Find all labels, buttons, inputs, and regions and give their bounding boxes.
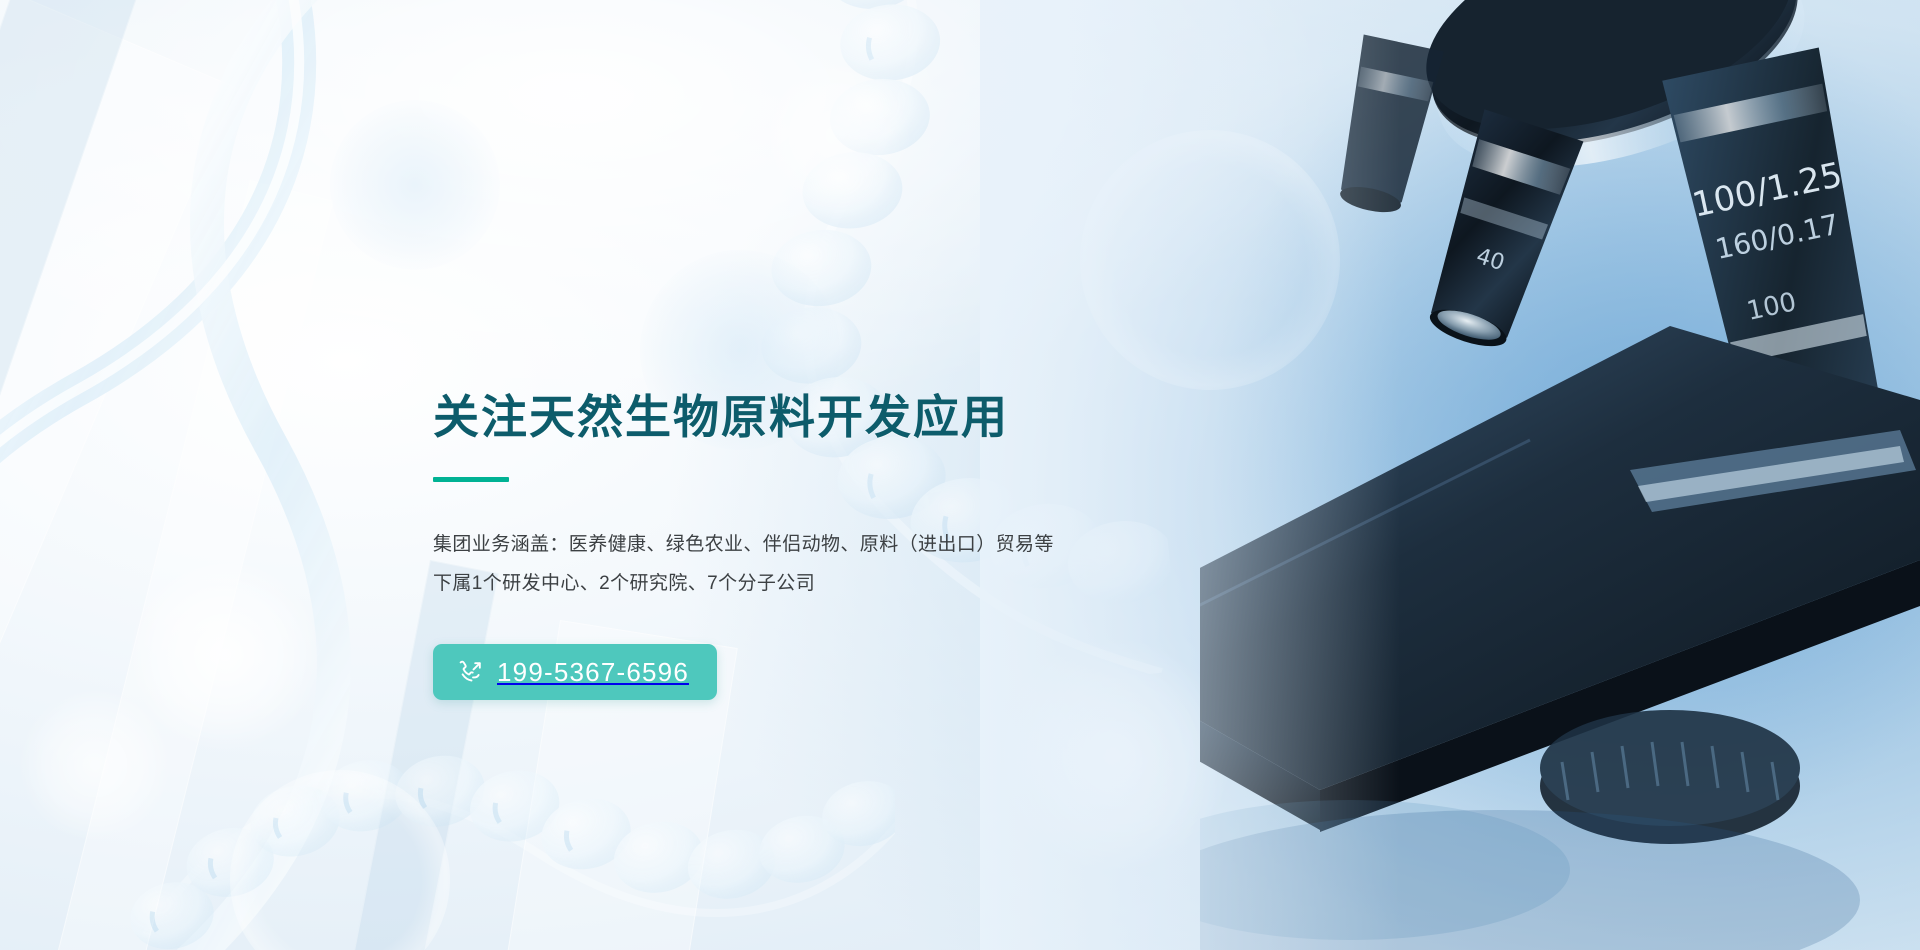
phone-number-label: 199-5367-6596 bbox=[497, 659, 689, 685]
hero-content: 关注天然生物原料开发应用 集团业务涵盖：医养健康、绿色农业、伴侣动物、原料（进出… bbox=[433, 390, 1253, 700]
page-title: 关注天然生物原料开发应用 bbox=[433, 390, 1253, 444]
hero-banner: 40 100/1.25 160/0.17 100 bbox=[0, 0, 1920, 950]
hero-description-line-1: 集团业务涵盖：医养健康、绿色农业、伴侣动物、原料（进出口）贸易等 bbox=[433, 526, 1253, 565]
phone-forward-icon bbox=[456, 658, 484, 686]
title-underline-rule bbox=[433, 477, 509, 482]
phone-cta-button[interactable]: 199-5367-6596 bbox=[433, 644, 717, 700]
hero-description: 集团业务涵盖：医养健康、绿色农业、伴侣动物、原料（进出口）贸易等 下属1个研发中… bbox=[433, 526, 1253, 604]
hero-description-line-2: 下属1个研发中心、2个研究院、7个分子公司 bbox=[433, 565, 1253, 604]
